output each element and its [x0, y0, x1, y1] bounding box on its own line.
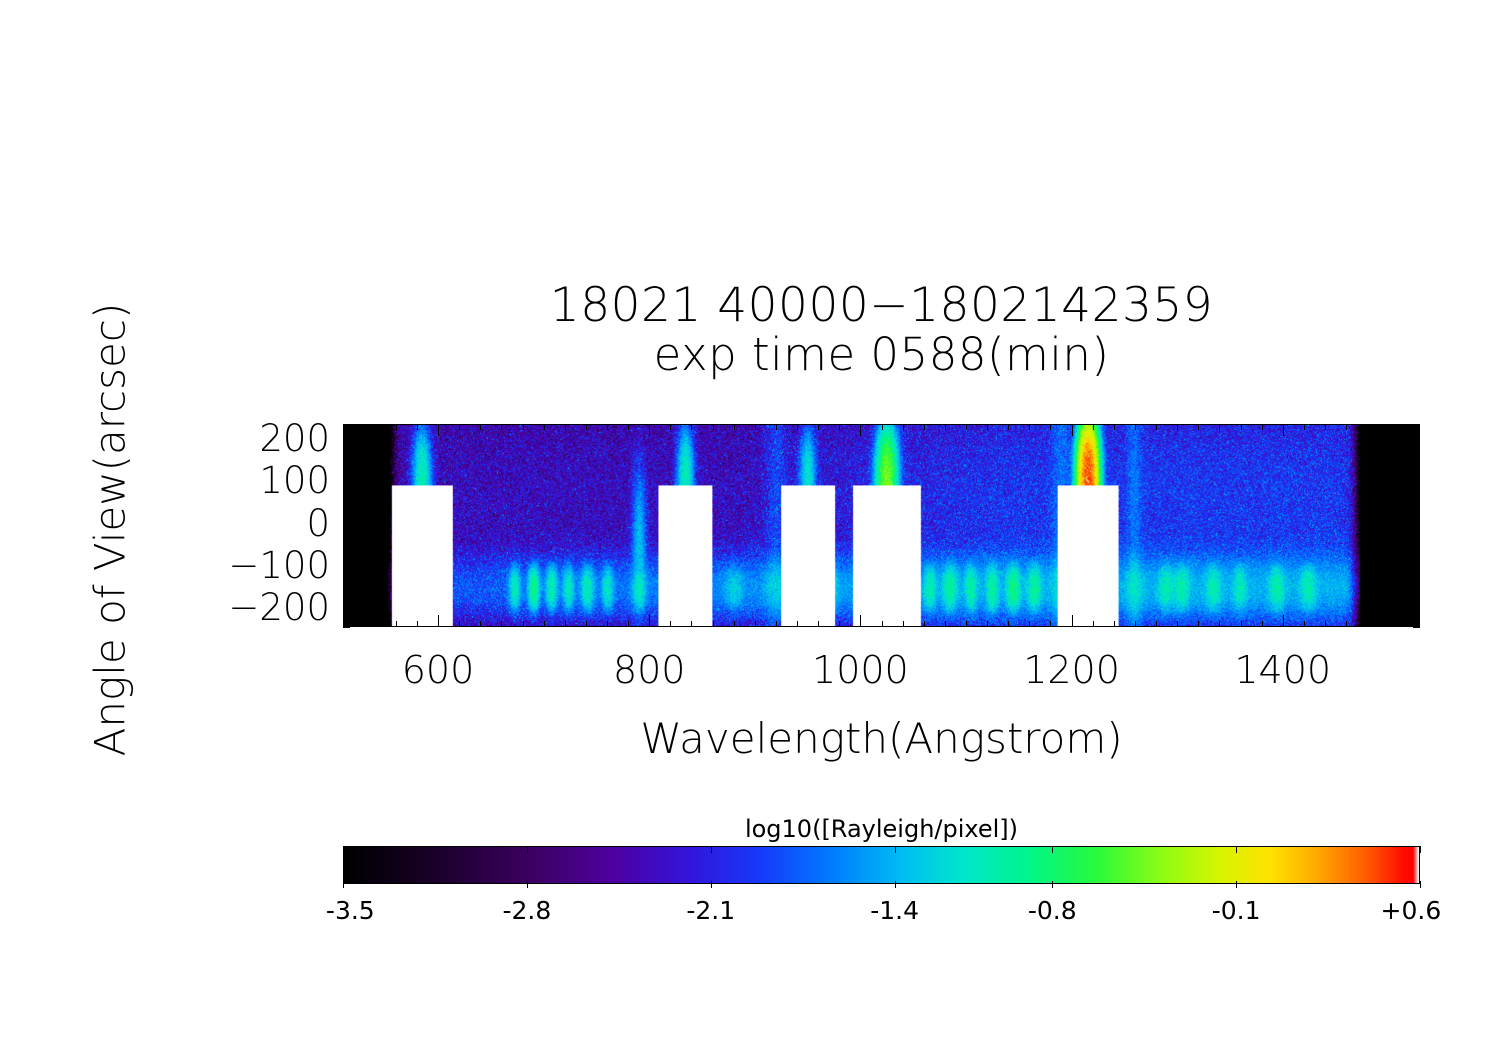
x-minor-tick-top: [1325, 424, 1326, 430]
x-minor-tick: [1177, 621, 1178, 627]
x-tick-label: 1200: [1023, 648, 1120, 692]
x-minor-tick: [1325, 621, 1326, 627]
x-minor-tick: [501, 621, 502, 627]
colorbar-tick-bottom: [343, 881, 344, 888]
x-minor-tick: [1135, 621, 1136, 627]
y-major-tick: [343, 610, 357, 611]
x-minor-tick: [987, 621, 988, 627]
x-minor-tick: [924, 621, 925, 627]
x-minor-tick: [565, 621, 566, 627]
x-minor-tick-top: [544, 424, 545, 430]
y-minor-tick: [343, 500, 350, 501]
y-minor-tick-right: [1413, 602, 1420, 603]
y-minor-tick-right: [1413, 534, 1420, 535]
y-minor-tick: [343, 466, 350, 467]
colorbar-tick: [1052, 846, 1053, 853]
y-major-tick: [343, 441, 357, 442]
x-minor-tick: [713, 621, 714, 627]
y-minor-tick: [343, 449, 350, 450]
x-minor-tick-top: [375, 424, 376, 430]
y-major-tick: [343, 483, 357, 484]
x-minor-tick-top: [1135, 424, 1136, 430]
colorbar-tick-label: +0.6: [1381, 896, 1442, 925]
x-major-tick: [649, 615, 650, 627]
x-minor-tick: [1409, 621, 1410, 627]
colorbar-tick: [895, 846, 896, 853]
x-minor-tick-top: [565, 424, 566, 430]
colorbar-tick-label: -1.4: [870, 896, 919, 925]
colorbar-tick-label: -2.8: [502, 896, 551, 925]
colorbar-tick: [343, 846, 344, 853]
x-minor-tick: [1008, 621, 1009, 627]
x-minor-tick: [670, 621, 671, 627]
x-minor-tick: [1262, 621, 1263, 627]
plot-title: 18021 40000−1802142359 exp time 0588(min…: [343, 282, 1420, 378]
colorbar-tick-label-group: -3.5-2.8-2.1-1.4-0.8-0.1+0.6: [343, 888, 1420, 928]
x-minor-tick: [396, 621, 397, 627]
y-tick-label: 0: [306, 502, 330, 545]
x-minor-tick: [945, 621, 946, 627]
x-minor-tick: [1304, 621, 1305, 627]
y-minor-tick-right: [1413, 466, 1420, 467]
x-minor-tick: [1388, 621, 1389, 627]
y-minor-tick: [343, 576, 350, 577]
x-tick-label: 800: [613, 648, 686, 692]
x-minor-tick-top: [1198, 424, 1199, 430]
title-line-2: exp time 0588(min): [343, 332, 1420, 378]
y-minor-tick: [343, 432, 350, 433]
y-major-tick-right: [1406, 526, 1420, 527]
x-minor-tick-top: [586, 424, 587, 430]
x-minor-tick: [354, 621, 355, 627]
x-minor-tick-top: [755, 424, 756, 430]
x-minor-tick-top: [607, 424, 608, 430]
x-minor-tick-top: [1050, 424, 1051, 430]
colorbar-tick-bottom: [1236, 881, 1237, 888]
x-minor-tick: [1367, 621, 1368, 627]
y-minor-tick-right: [1413, 458, 1420, 459]
x-minor-tick: [1050, 621, 1051, 627]
x-minor-tick: [691, 621, 692, 627]
figure-canvas: 18021 40000−1802142359 exp time 0588(min…: [0, 0, 1497, 1058]
x-minor-tick-top: [691, 424, 692, 430]
colorbar-tick-label: -0.8: [1028, 896, 1077, 925]
y-minor-tick-right: [1413, 475, 1420, 476]
x-minor-tick-top: [903, 424, 904, 430]
x-minor-tick-top: [713, 424, 714, 430]
x-minor-tick-top: [1008, 424, 1009, 430]
y-minor-tick: [343, 424, 350, 425]
y-minor-tick-right: [1413, 593, 1420, 594]
x-minor-tick-top: [966, 424, 967, 430]
x-minor-tick: [1029, 621, 1030, 627]
y-minor-tick: [343, 458, 350, 459]
x-minor-tick-top: [1304, 424, 1305, 430]
x-minor-tick-top: [1219, 424, 1220, 430]
colorbar: [343, 846, 1420, 884]
y-minor-tick-right: [1413, 559, 1420, 560]
x-minor-tick: [417, 621, 418, 627]
y-minor-tick: [343, 619, 350, 620]
y-major-tick-right: [1406, 568, 1420, 569]
x-major-tick-top: [1283, 424, 1284, 436]
x-minor-tick: [1346, 621, 1347, 627]
x-major-tick: [1283, 615, 1284, 627]
x-minor-tick-top: [945, 424, 946, 430]
y-minor-tick: [343, 492, 350, 493]
y-minor-tick-right: [1413, 627, 1420, 628]
y-major-tick: [343, 568, 357, 569]
x-minor-tick-top: [1029, 424, 1030, 430]
x-tick-label: 1400: [1234, 648, 1331, 692]
x-major-tick: [860, 615, 861, 627]
x-minor-tick: [459, 621, 460, 627]
x-minor-tick-top: [1241, 424, 1242, 430]
x-minor-tick: [628, 621, 629, 627]
x-minor-tick: [480, 621, 481, 627]
x-minor-tick: [1114, 621, 1115, 627]
y-minor-tick-right: [1413, 500, 1420, 501]
y-major-tick-right: [1406, 441, 1420, 442]
x-minor-tick-top: [628, 424, 629, 430]
y-tick-label: −200: [228, 586, 330, 629]
y-minor-tick-right: [1413, 449, 1420, 450]
x-major-tick: [1072, 615, 1073, 627]
x-minor-tick: [818, 621, 819, 627]
x-minor-tick: [544, 621, 545, 627]
y-minor-tick: [343, 542, 350, 543]
y-major-tick: [343, 526, 357, 527]
x-minor-tick-top: [501, 424, 502, 430]
x-minor-tick: [607, 621, 608, 627]
y-minor-tick-right: [1413, 492, 1420, 493]
x-minor-tick: [586, 621, 587, 627]
y-minor-tick-right: [1413, 542, 1420, 543]
y-tick-label-group: 2001000−100−200: [190, 424, 330, 627]
y-minor-tick: [343, 559, 350, 560]
x-minor-tick-top: [396, 424, 397, 430]
x-minor-tick-top: [1093, 424, 1094, 430]
x-minor-tick-top: [1156, 424, 1157, 430]
x-major-tick-top: [649, 424, 650, 436]
y-minor-tick: [343, 509, 350, 510]
colorbar-tick: [527, 846, 528, 853]
y-tick-label: −100: [228, 544, 330, 587]
y-minor-tick-right: [1413, 432, 1420, 433]
x-minor-tick-top: [734, 424, 735, 430]
colorbar-title: log10([Rayleigh/pixel]): [343, 815, 1420, 843]
y-minor-tick-right: [1413, 517, 1420, 518]
y-minor-tick: [343, 475, 350, 476]
x-major-tick-top: [1072, 424, 1073, 436]
spectrogram-image: [344, 425, 1419, 626]
x-minor-tick-top: [417, 424, 418, 430]
x-major-tick: [438, 615, 439, 627]
y-minor-tick: [343, 593, 350, 594]
y-minor-tick: [343, 585, 350, 586]
x-minor-tick: [375, 621, 376, 627]
x-minor-tick: [797, 621, 798, 627]
colorbar-tick-label: -3.5: [326, 896, 375, 925]
x-minor-tick-top: [1388, 424, 1389, 430]
x-minor-tick: [1093, 621, 1094, 627]
x-minor-tick-top: [1346, 424, 1347, 430]
x-minor-tick: [1241, 621, 1242, 627]
x-minor-tick: [734, 621, 735, 627]
x-minor-tick: [882, 621, 883, 627]
y-minor-tick-right: [1413, 619, 1420, 620]
x-minor-tick: [1198, 621, 1199, 627]
x-minor-tick: [839, 621, 840, 627]
x-minor-tick-top: [480, 424, 481, 430]
x-minor-tick: [966, 621, 967, 627]
y-minor-tick-right: [1413, 585, 1420, 586]
x-minor-tick: [1156, 621, 1157, 627]
y-major-tick-right: [1406, 610, 1420, 611]
y-minor-tick: [343, 602, 350, 603]
colorbar-gradient: [344, 847, 1419, 883]
x-minor-tick-top: [459, 424, 460, 430]
x-minor-tick-top: [818, 424, 819, 430]
x-minor-tick-top: [924, 424, 925, 430]
y-major-tick-right: [1406, 483, 1420, 484]
x-tick-label: 600: [402, 648, 475, 692]
x-minor-tick-top: [1114, 424, 1115, 430]
colorbar-tick: [711, 846, 712, 853]
title-line-1: 18021 40000−1802142359: [343, 282, 1420, 330]
x-minor-tick-top: [523, 424, 524, 430]
x-minor-tick-top: [882, 424, 883, 430]
y-tick-label: 100: [259, 459, 330, 502]
y-minor-tick-right: [1413, 509, 1420, 510]
colorbar-tick-bottom: [895, 881, 896, 888]
colorbar-tick: [1236, 846, 1237, 853]
colorbar-tick: [1420, 846, 1421, 853]
x-minor-tick-top: [987, 424, 988, 430]
x-minor-tick: [776, 621, 777, 627]
y-minor-tick: [343, 517, 350, 518]
y-minor-tick: [343, 534, 350, 535]
x-minor-tick-top: [1262, 424, 1263, 430]
y-axis-title: Angle of View(arcsec): [86, 270, 135, 790]
x-minor-tick: [523, 621, 524, 627]
x-minor-tick-top: [1409, 424, 1410, 430]
x-minor-tick: [903, 621, 904, 627]
x-major-tick-top: [438, 424, 439, 436]
x-minor-tick-top: [1367, 424, 1368, 430]
y-minor-tick: [343, 551, 350, 552]
x-minor-tick: [755, 621, 756, 627]
x-minor-tick-top: [1177, 424, 1178, 430]
x-minor-tick-top: [797, 424, 798, 430]
x-minor-tick-top: [354, 424, 355, 430]
x-tick-label-group: 600800100012001400: [343, 648, 1420, 708]
colorbar-tick-label: -2.1: [686, 896, 735, 925]
y-minor-tick-right: [1413, 551, 1420, 552]
y-minor-tick: [343, 627, 350, 628]
x-axis-title: Wavelength(Angstrom): [343, 714, 1420, 763]
colorbar-tick-label: -0.1: [1212, 896, 1261, 925]
colorbar-tick-bottom: [527, 881, 528, 888]
x-tick-label: 1000: [812, 648, 909, 692]
x-minor-tick: [1219, 621, 1220, 627]
y-minor-tick-right: [1413, 576, 1420, 577]
y-minor-tick-right: [1413, 424, 1420, 425]
x-minor-tick-top: [839, 424, 840, 430]
colorbar-tick-bottom: [1420, 881, 1421, 888]
x-major-tick-top: [860, 424, 861, 436]
colorbar-tick-bottom: [1052, 881, 1053, 888]
x-minor-tick-top: [670, 424, 671, 430]
x-minor-tick-top: [776, 424, 777, 430]
y-tick-label: 200: [259, 417, 330, 460]
spectrogram-panel: [343, 424, 1420, 627]
colorbar-tick-bottom: [711, 881, 712, 888]
